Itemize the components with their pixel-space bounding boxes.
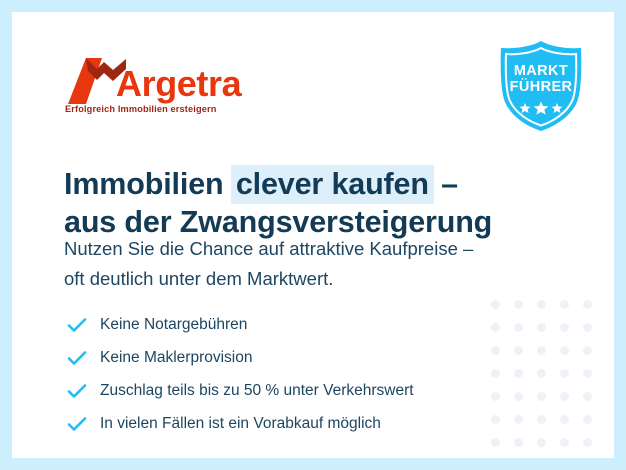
subtitle-line-1: Nutzen Sie die Chance auf attraktive Kau… xyxy=(64,234,564,264)
dot xyxy=(583,369,592,378)
list-item-label: Keine Maklerprovision xyxy=(100,348,253,368)
dot xyxy=(583,392,592,401)
shield-icon xyxy=(493,40,589,132)
check-icon xyxy=(66,347,88,369)
dot xyxy=(537,300,546,309)
headline-suffix: – xyxy=(433,167,458,201)
check-icon xyxy=(66,413,88,435)
promo-card: Argetra Erfolgreich Immobilien ersteiger… xyxy=(12,12,614,458)
dot xyxy=(537,392,546,401)
brand-logo[interactable]: Argetra Erfolgreich Immobilien ersteiger… xyxy=(64,56,264,122)
headline-prefix: Immobilien xyxy=(64,167,232,201)
dot xyxy=(560,392,569,401)
logo-lockup: Argetra Erfolgreich Immobilien ersteiger… xyxy=(64,56,264,106)
list-item-label: Keine Notargebühren xyxy=(100,315,247,335)
list-item-label: In vielen Fällen ist ein Vorabkauf mögli… xyxy=(100,414,381,434)
logo-tagline: Erfolgreich Immobilien ersteigern xyxy=(65,104,216,114)
list-item-label: Zuschlag teils bis zu 50 % unter Verkehr… xyxy=(100,381,414,401)
page-frame: Argetra Erfolgreich Immobilien ersteiger… xyxy=(0,0,626,470)
dot xyxy=(560,415,569,424)
list-item: Keine Notargebühren xyxy=(66,308,516,341)
market-leader-badge: MARKT FÜHRER xyxy=(493,40,589,132)
subtitle-line-2: oft deutlich unter dem Marktwert. xyxy=(64,264,564,294)
dot xyxy=(537,415,546,424)
headline-highlight: clever kaufen xyxy=(231,165,434,204)
logo-wordmark: Argetra xyxy=(116,62,241,106)
dot xyxy=(537,346,546,355)
dot xyxy=(560,369,569,378)
dot xyxy=(560,346,569,355)
dot xyxy=(560,323,569,332)
list-item: Keine Maklerprovision xyxy=(66,341,516,374)
dot xyxy=(537,369,546,378)
dot xyxy=(583,300,592,309)
dot xyxy=(537,323,546,332)
page-title: Immobilien clever kaufen – aus der Zwang… xyxy=(64,165,534,241)
dot xyxy=(560,300,569,309)
dot xyxy=(583,415,592,424)
dot xyxy=(583,438,592,447)
headline-line-1: Immobilien clever kaufen – xyxy=(64,165,534,203)
dot xyxy=(560,438,569,447)
dot xyxy=(583,346,592,355)
list-item: Zuschlag teils bis zu 50 % unter Verkehr… xyxy=(66,374,516,407)
list-item: In vielen Fällen ist ein Vorabkauf mögli… xyxy=(66,407,516,440)
dot xyxy=(537,438,546,447)
dot xyxy=(583,323,592,332)
check-icon xyxy=(66,380,88,402)
page-subtitle: Nutzen Sie die Chance auf attraktive Kau… xyxy=(64,234,564,294)
check-icon xyxy=(66,314,88,336)
benefits-list: Keine Notargebühren Keine Maklerprovisio… xyxy=(66,308,516,440)
